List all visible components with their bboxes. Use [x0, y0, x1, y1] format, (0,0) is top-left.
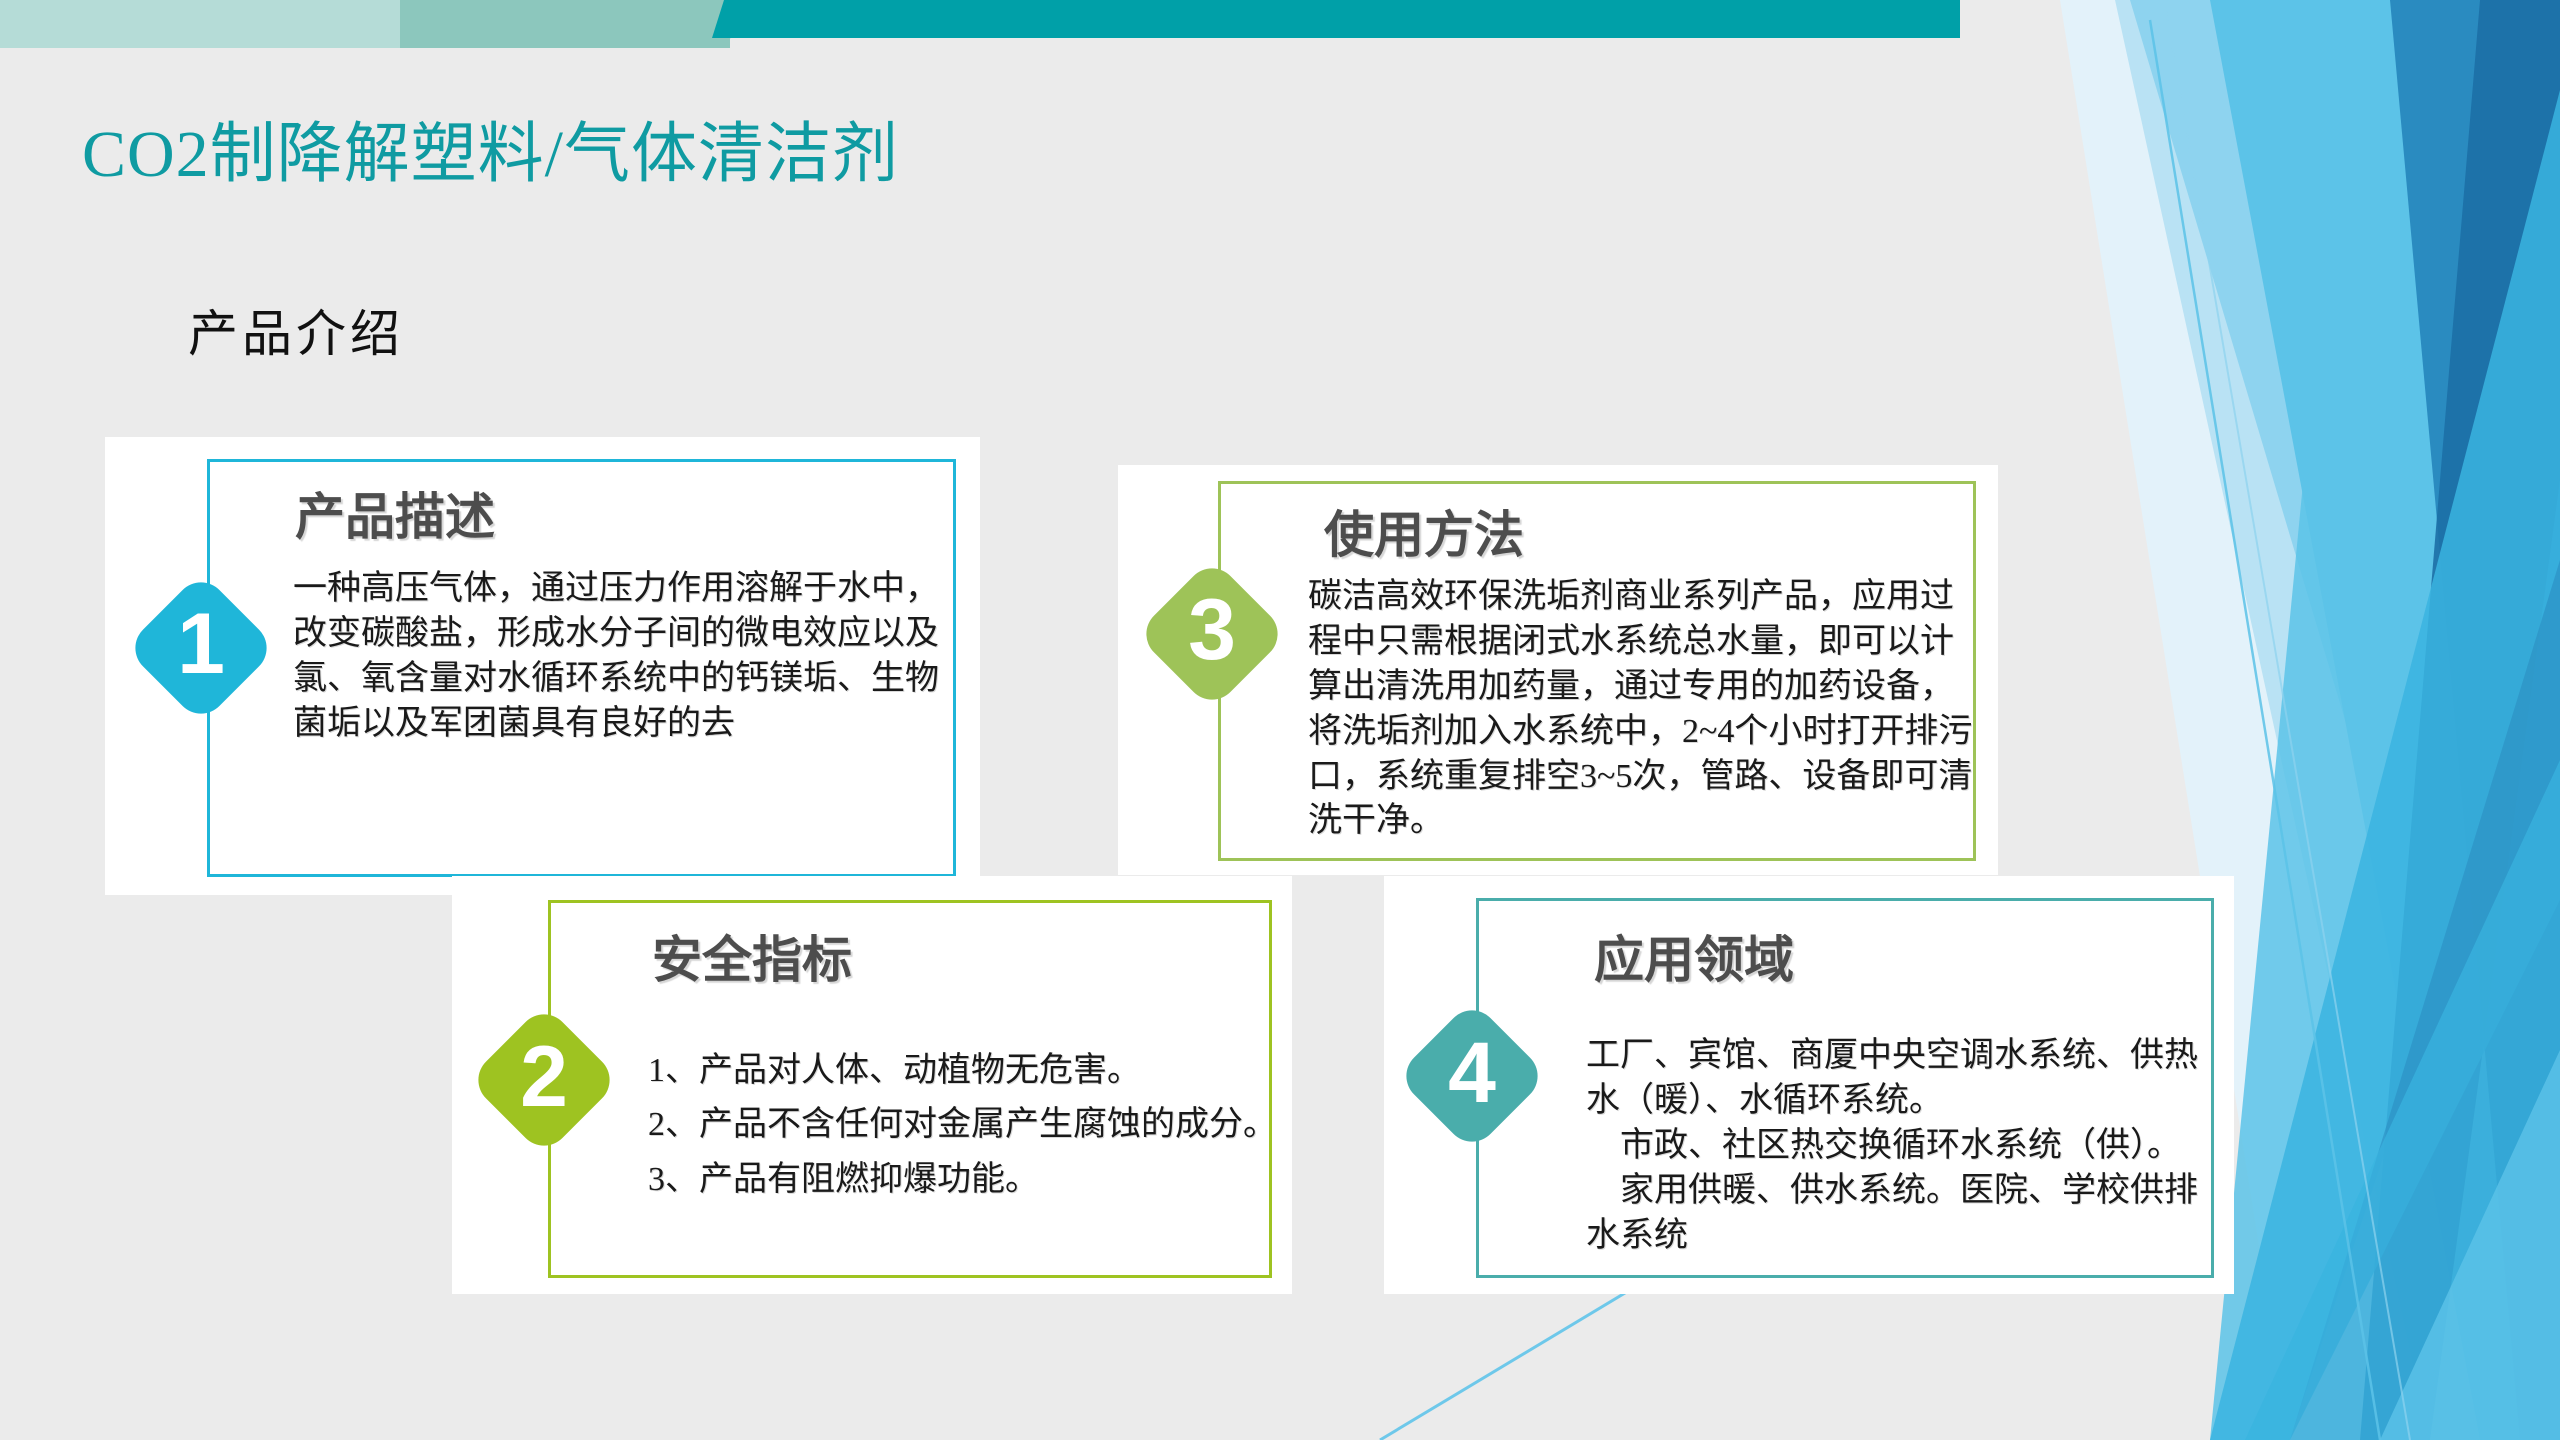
card-body-3: 碳洁高效环保洗垢剂商业系列产品，应用过程中只需根据闭式水系统总水量，即可以计算出…: [1308, 575, 1980, 844]
card-body-4: 工厂、宾馆、商厦中央空调水系统、供热水（暖）、水循环系统。 市政、社区热交换循环…: [1586, 1034, 2230, 1258]
page-subtitle: 产品介绍: [188, 294, 404, 366]
card-title-3: 使用方法: [1324, 495, 1524, 567]
page-title: CO2制降解塑料/气体清洁剂: [82, 100, 899, 196]
slide-canvas: CO2制降解塑料/气体清洁剂 产品介绍 1 产品描述 一种高压气体，通过压力作用…: [0, 0, 2560, 1440]
header-band-mid: [400, 0, 730, 48]
card-title-4: 应用领域: [1594, 920, 1794, 992]
card-body-2: 1、产品对人体、动植物无危害。 2、产品不含任何对金属产生腐蚀的成分。 3、产品…: [648, 1044, 1278, 1207]
card-title-2: 安全指标: [652, 920, 852, 992]
card-title-1: 产品描述: [295, 477, 495, 549]
badge-number-1: 1: [136, 601, 266, 687]
card-body-1: 一种高压气体，通过压力作用溶解于水中，改变碳酸盐，形成水分子间的微电效应以及氯、…: [293, 567, 963, 747]
card-application-field: 4 应用领域 工厂、宾馆、商厦中央空调水系统、供热水（暖）、水循环系统。 市政、…: [1384, 876, 2234, 1294]
badge-number-4: 4: [1407, 1030, 1537, 1116]
badge-number-3: 3: [1147, 587, 1277, 673]
card-usage-method: 3 使用方法 碳洁高效环保洗垢剂商业系列产品，应用过程中只需根据闭式水系统总水量…: [1118, 465, 1998, 875]
card-product-description: 1 产品描述 一种高压气体，通过压力作用溶解于水中，改变碳酸盐，形成水分子间的微…: [105, 437, 980, 895]
header-band-teal: [728, 0, 1960, 38]
card-safety-index: 2 安全指标 1、产品对人体、动植物无危害。 2、产品不含任何对金属产生腐蚀的成…: [452, 876, 1292, 1294]
badge-number-2: 2: [479, 1034, 609, 1120]
